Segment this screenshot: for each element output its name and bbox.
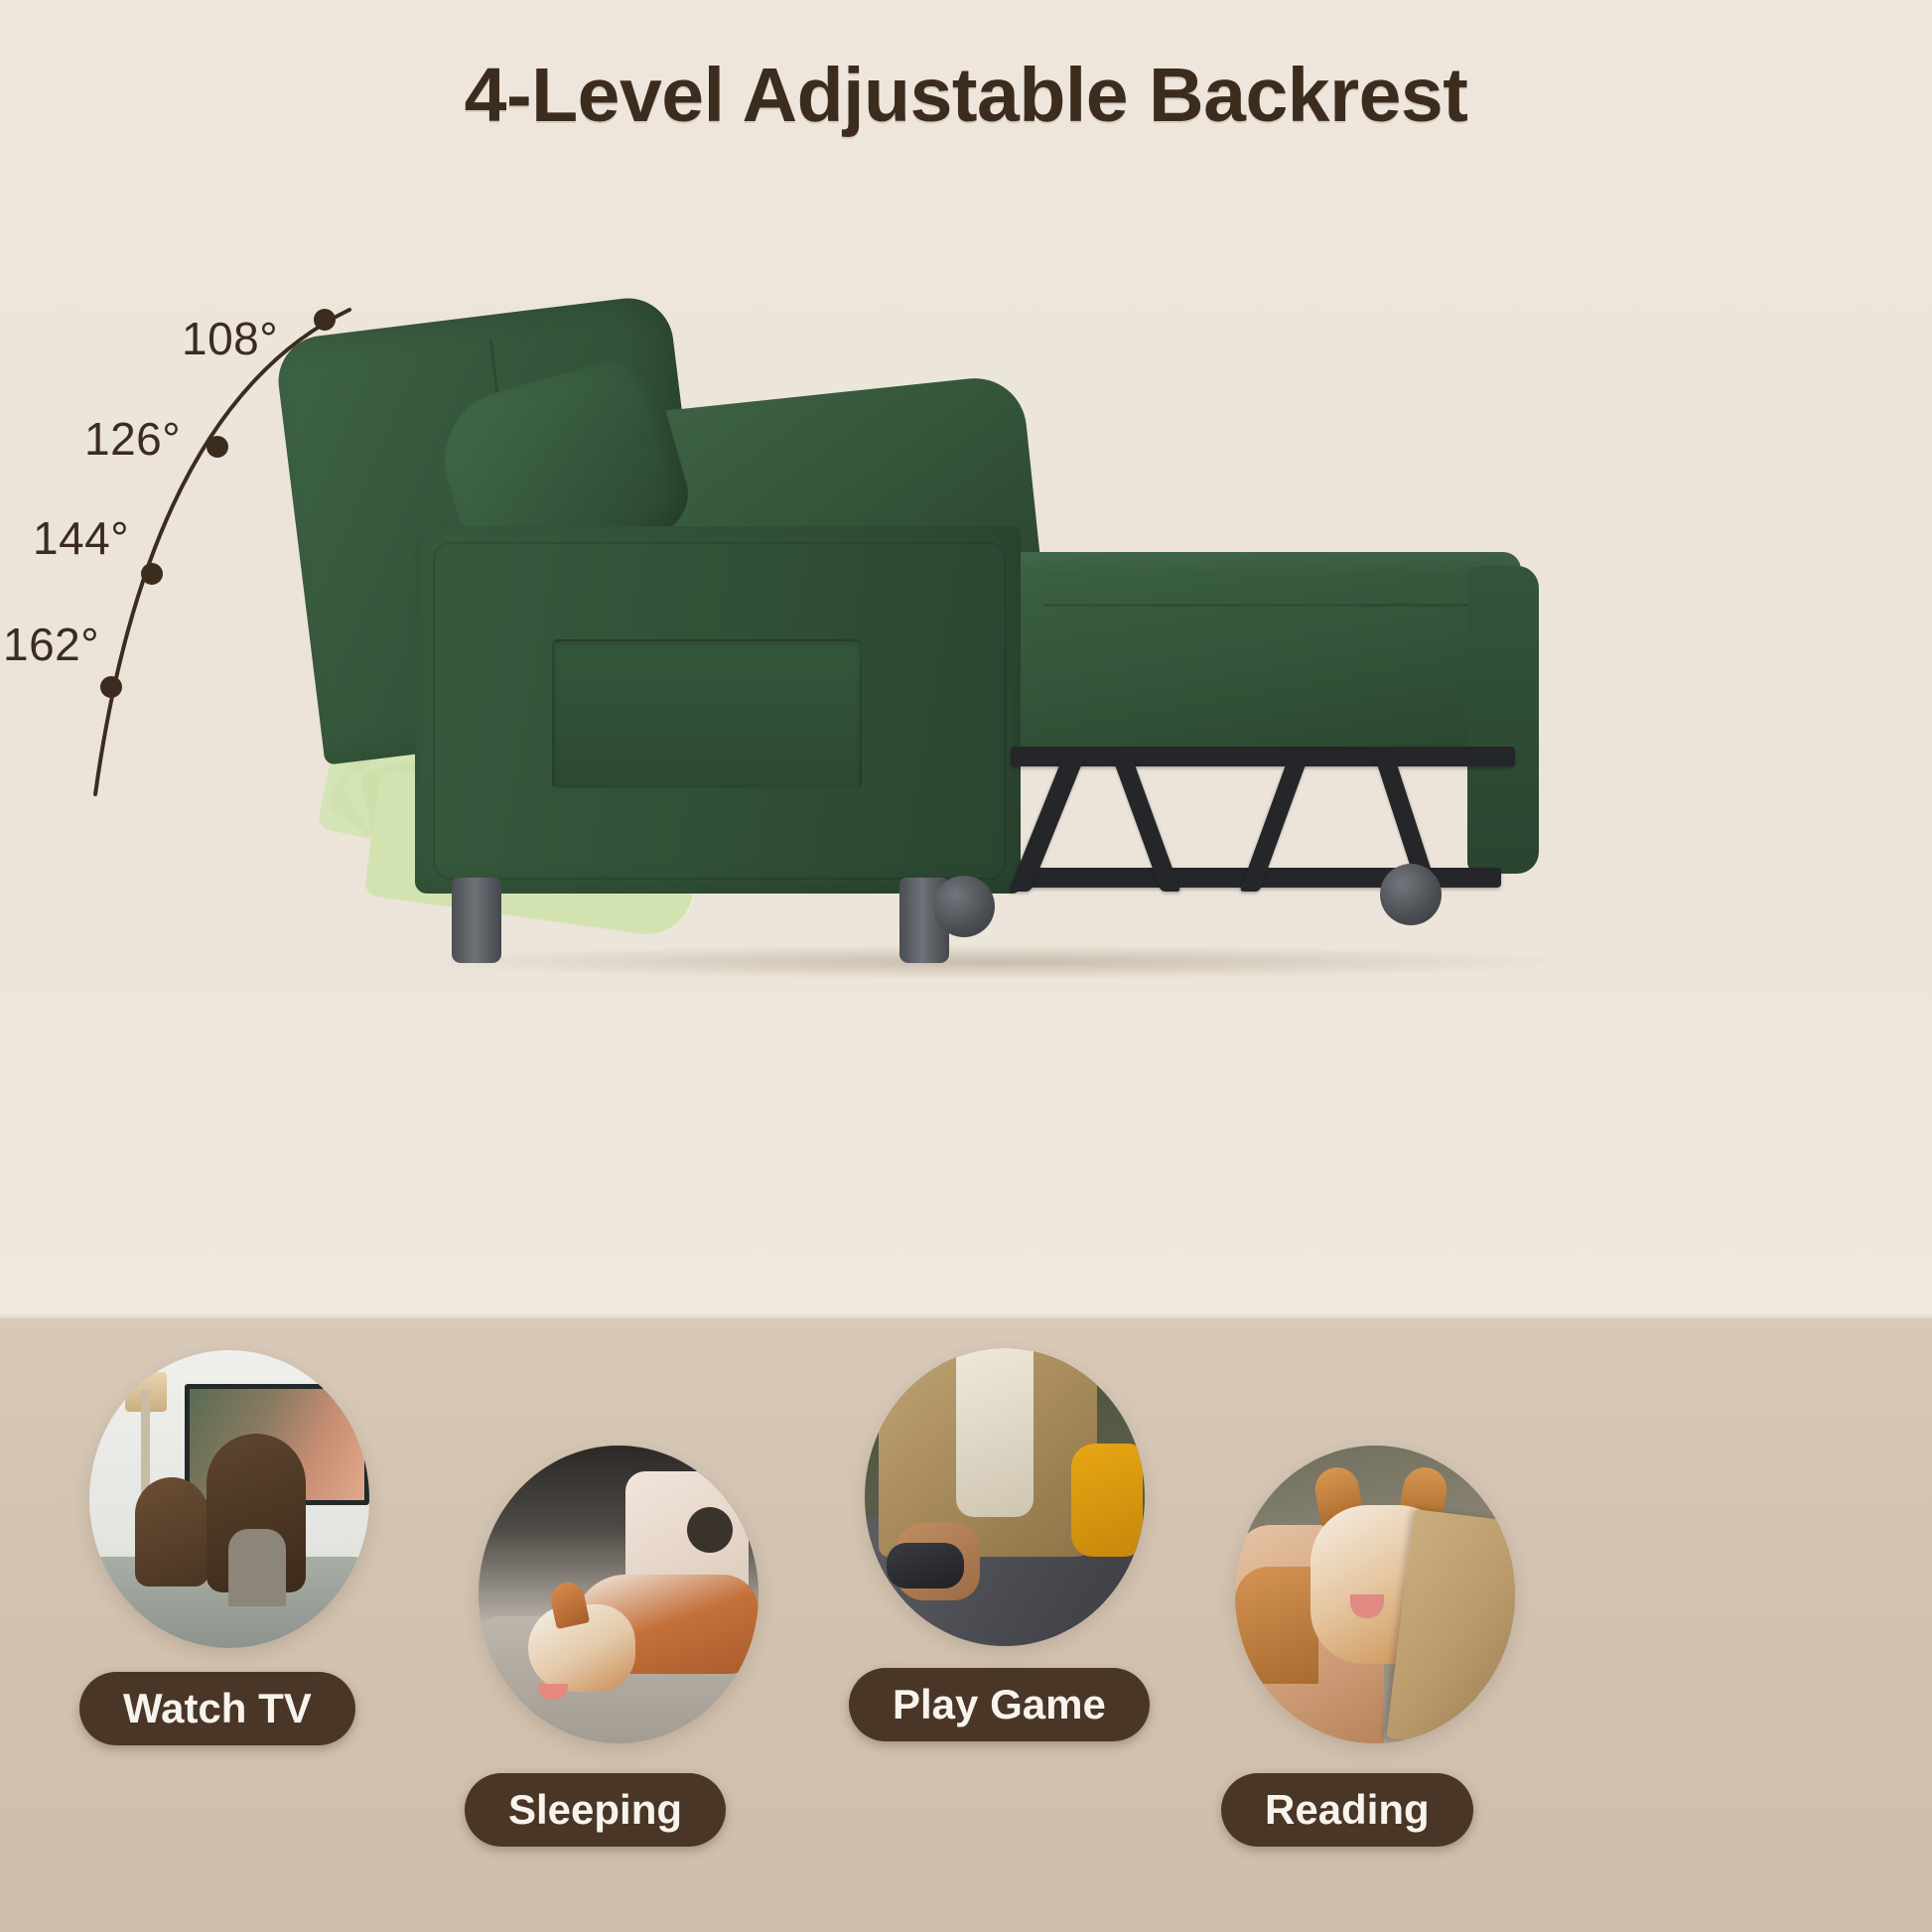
- use-case-section: Watch TV Sleeping: [0, 1312, 1932, 1932]
- scene-photo-reading: [1235, 1446, 1515, 1743]
- scene-photo-sleeping: [479, 1446, 759, 1743]
- badge-play-game[interactable]: Play Game: [849, 1668, 1150, 1741]
- floor-shadow: [417, 945, 1569, 979]
- caster-wheel-front: [933, 876, 995, 937]
- scene-photo-watch-tv: [89, 1350, 369, 1648]
- extended-footrest: [1005, 552, 1521, 751]
- sofa-leg-front: [452, 878, 501, 963]
- badge-sleeping[interactable]: Sleeping: [465, 1773, 726, 1847]
- person-child: [135, 1477, 208, 1587]
- sofa-bed-illustration: [0, 0, 1932, 1312]
- reader-hair: [1235, 1567, 1318, 1684]
- backrest-diagram-section: 4-Level Adjustable Backrest 108° 126° 14…: [0, 0, 1932, 1312]
- game-controller: [887, 1543, 964, 1588]
- second-player-sleeve: [1071, 1444, 1143, 1557]
- frame-bar-top: [1011, 747, 1515, 766]
- badge-reading[interactable]: Reading: [1221, 1773, 1473, 1847]
- side-storage-pocket: [552, 639, 862, 788]
- product-infographic: 4-Level Adjustable Backrest 108° 126° 14…: [0, 0, 1932, 1932]
- gamer-shirt: [956, 1348, 1034, 1517]
- reading-image: [1235, 1446, 1515, 1743]
- scene-photo-play-game: [865, 1348, 1145, 1646]
- caster-wheel-rear: [1380, 864, 1442, 925]
- badge-watch-tv[interactable]: Watch TV: [79, 1672, 355, 1745]
- play-game-image: [865, 1348, 1145, 1646]
- person-adult: [207, 1434, 306, 1592]
- sleeping-image: [479, 1446, 759, 1743]
- watch-tv-image: [89, 1350, 369, 1648]
- metal-support-frame: [1011, 747, 1515, 894]
